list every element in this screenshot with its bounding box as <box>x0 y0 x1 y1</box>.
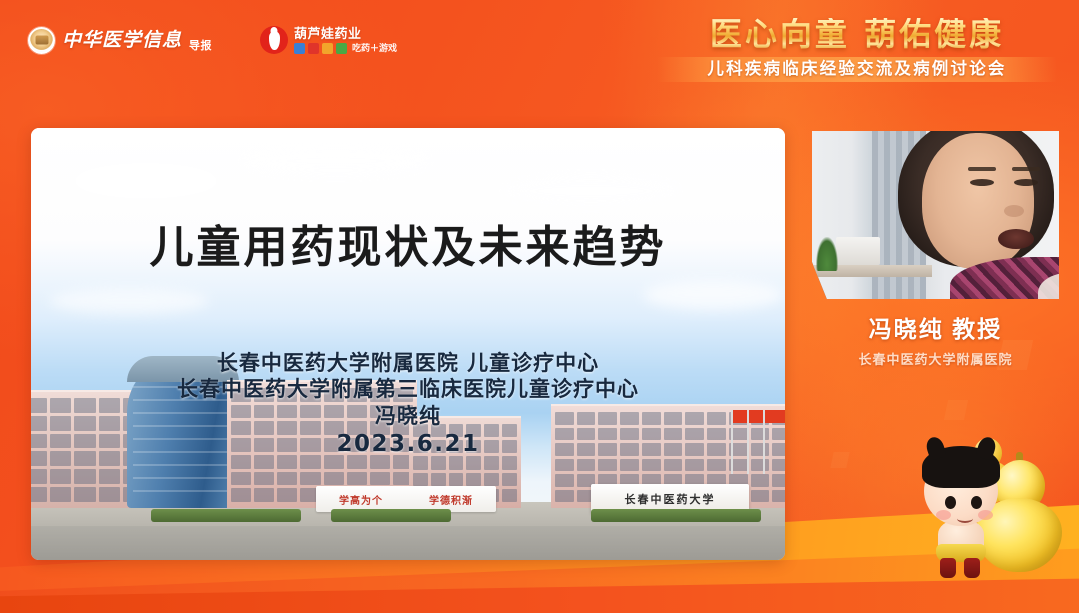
huluwa-text: 葫芦娃药业 吃药＋游戏 <box>294 27 397 54</box>
person-eye-left <box>970 179 994 186</box>
logo-cma: 中华医学信息 导报 <box>28 27 212 54</box>
chip-orange-icon <box>322 43 333 54</box>
speaker-webcam-video[interactable] <box>812 131 1059 299</box>
chip-green-icon <box>336 43 347 54</box>
huluwa-character-icon <box>920 446 1002 582</box>
person-eye-right <box>1014 179 1038 186</box>
huluwa-slogan: 吃药＋游戏 <box>352 44 397 53</box>
webcam-plant <box>816 237 838 271</box>
slide-subtitle-line-3: 冯晓纯 <box>31 403 785 429</box>
huluwa-slogan-row: 吃药＋游戏 <box>294 43 397 54</box>
cma-wordmark: 中华医学信息 <box>62 31 182 50</box>
person-brow-right <box>1012 167 1040 171</box>
photo-road <box>31 526 785 560</box>
person-face <box>922 133 1034 269</box>
slide-subtitle-line-2: 长春中医药大学附属第三临床医院儿童诊疗中心 <box>31 376 785 402</box>
chip-red-icon <box>308 43 319 54</box>
event-header: 医心向童 葫佑健康 儿科疾病临床经验交流及病例讨论会 <box>657 18 1057 82</box>
wall-banner-right-text: 学德积渐 <box>429 492 473 507</box>
cloud-icon <box>241 146 431 176</box>
hedge <box>591 509 761 522</box>
person-nose <box>1004 205 1024 217</box>
speaker-name: 冯晓纯 教授 <box>812 316 1059 342</box>
slide-title: 儿童用药现状及未来趋势 <box>31 224 785 272</box>
webcam-person <box>888 131 1059 299</box>
webcam-box <box>836 237 880 265</box>
broadcast-stage: 中华医学信息 导报 葫芦娃药业 吃药＋游戏 医心向童 葫佑健康 儿科疾 <box>0 0 1079 613</box>
header-logos: 中华医学信息 导报 葫芦娃药业 吃药＋游戏 <box>28 26 397 54</box>
cma-suffix: 导报 <box>189 37 212 54</box>
slide-date: 2023.6.21 <box>31 430 785 459</box>
chip-blue-icon <box>294 43 305 54</box>
event-title: 医心向童 葫佑健康 <box>657 18 1057 51</box>
speaker-organization: 长春中医药大学附属医院 <box>812 349 1059 368</box>
hedge <box>331 509 451 522</box>
person-brow-left <box>968 167 996 171</box>
cloud-icon <box>501 174 681 208</box>
cloud-icon <box>71 162 221 200</box>
event-subtitle: 儿科疾病临床经验交流及病例讨论会 <box>657 60 1057 78</box>
logo-huluwa: 葫芦娃药业 吃药＋游戏 <box>260 26 397 54</box>
gate-sign-text: 长春中医药大学 <box>625 491 716 507</box>
huluwa-mascot <box>916 432 1066 592</box>
huluwa-name: 葫芦娃药业 <box>294 27 397 40</box>
cma-emblem-icon <box>28 27 55 54</box>
presentation-slide[interactable]: 学高为个 学德积渐 长春中医药大学 儿童用药现状及未来趋势 长春中医药大学附属医… <box>31 128 785 560</box>
wall-banner-left-text: 学高为个 <box>339 492 383 507</box>
speaker-caption: 冯晓纯 教授 长春中医药大学附属医院 <box>812 316 1059 368</box>
slide-subtitle-line-1: 长春中医药大学附属医院 儿童诊疗中心 <box>31 350 785 376</box>
event-subtitle-band: 儿科疾病临床经验交流及病例讨论会 <box>657 57 1057 82</box>
cloud-icon <box>49 288 209 314</box>
person-mouth <box>998 229 1034 249</box>
hedge <box>151 509 301 522</box>
slide-subtitle-block: 长春中医药大学附属医院 儿童诊疗中心 长春中医药大学附属第三临床医院儿童诊疗中心… <box>31 350 785 459</box>
cloud-icon <box>643 280 783 310</box>
gourd-icon <box>260 26 288 54</box>
